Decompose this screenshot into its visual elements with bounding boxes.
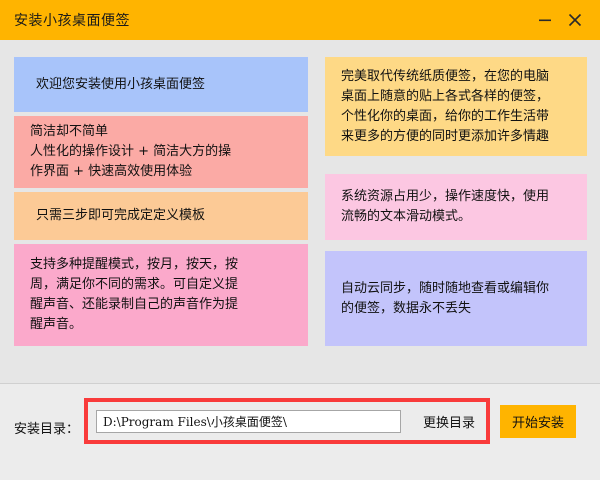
installer-window: 安装小孩桌面便签 欢迎您安装使用小孩桌面便签 简洁却不简单 人性化的操作设计 — [0, 0, 600, 480]
panel-reminder-text: 支持多种提醒模式，按月，按天，按 周，满足你不同的需求。可自定义提 醒声音、还能… — [14, 255, 308, 335]
close-icon — [567, 12, 583, 28]
panel-cloud-sync: 自动云同步，随时随地查看或编辑你 的便签，数据永不丢失 — [325, 251, 587, 346]
panel-resource-usage-text: 系统资源占用少，操作速度快，使用 流畅的文本滑动模式。 — [325, 187, 587, 227]
close-button[interactable] — [560, 0, 590, 40]
panel-simple: 简洁却不简单 人性化的操作设计 + 简洁大方的操 作界面 + 快速高效使用体验 — [14, 116, 308, 188]
panel-resource-usage: 系统资源占用少，操作速度快，使用 流畅的文本滑动模式。 — [325, 174, 587, 240]
feature-panel-area: 欢迎您安装使用小孩桌面便签 简洁却不简单 人性化的操作设计 + 简洁大方的操 作… — [0, 40, 600, 383]
panel-welcome-text: 欢迎您安装使用小孩桌面便签 — [14, 75, 308, 95]
minimize-button[interactable] — [530, 0, 560, 40]
window-title: 安装小孩桌面便签 — [14, 10, 130, 30]
panel-cloud-sync-text: 自动云同步，随时随地查看或编辑你 的便签，数据永不丢失 — [325, 279, 587, 319]
panel-three-step: 只需三步即可完成定定义模板 — [14, 192, 308, 240]
panel-welcome: 欢迎您安装使用小孩桌面便签 — [14, 57, 308, 112]
panel-three-step-text: 只需三步即可完成定定义模板 — [14, 206, 308, 226]
install-path-input[interactable]: D:\Program Files\小孩桌面便签\ — [96, 410, 401, 433]
browse-directory-button[interactable]: 更换目录 — [409, 406, 489, 437]
title-bar: 安装小孩桌面便签 — [0, 0, 600, 40]
panel-replace-paper-text: 完美取代传统纸质便签，在您的电脑 桌面上随意的贴上各式各样的便签， 个性化你的桌… — [325, 67, 587, 147]
minimize-icon — [538, 13, 552, 27]
panel-replace-paper: 完美取代传统纸质便签，在您的电脑 桌面上随意的贴上各式各样的便签， 个性化你的桌… — [325, 57, 587, 156]
install-directory-label: 安装目录： — [14, 418, 79, 437]
start-install-button[interactable]: 开始安装 — [500, 405, 576, 438]
panel-simple-text: 简洁却不简单 人性化的操作设计 + 简洁大方的操 作界面 + 快速高效使用体验 — [14, 122, 308, 182]
panel-reminder: 支持多种提醒模式，按月，按天，按 周，满足你不同的需求。可自定义提 醒声音、还能… — [14, 244, 308, 346]
